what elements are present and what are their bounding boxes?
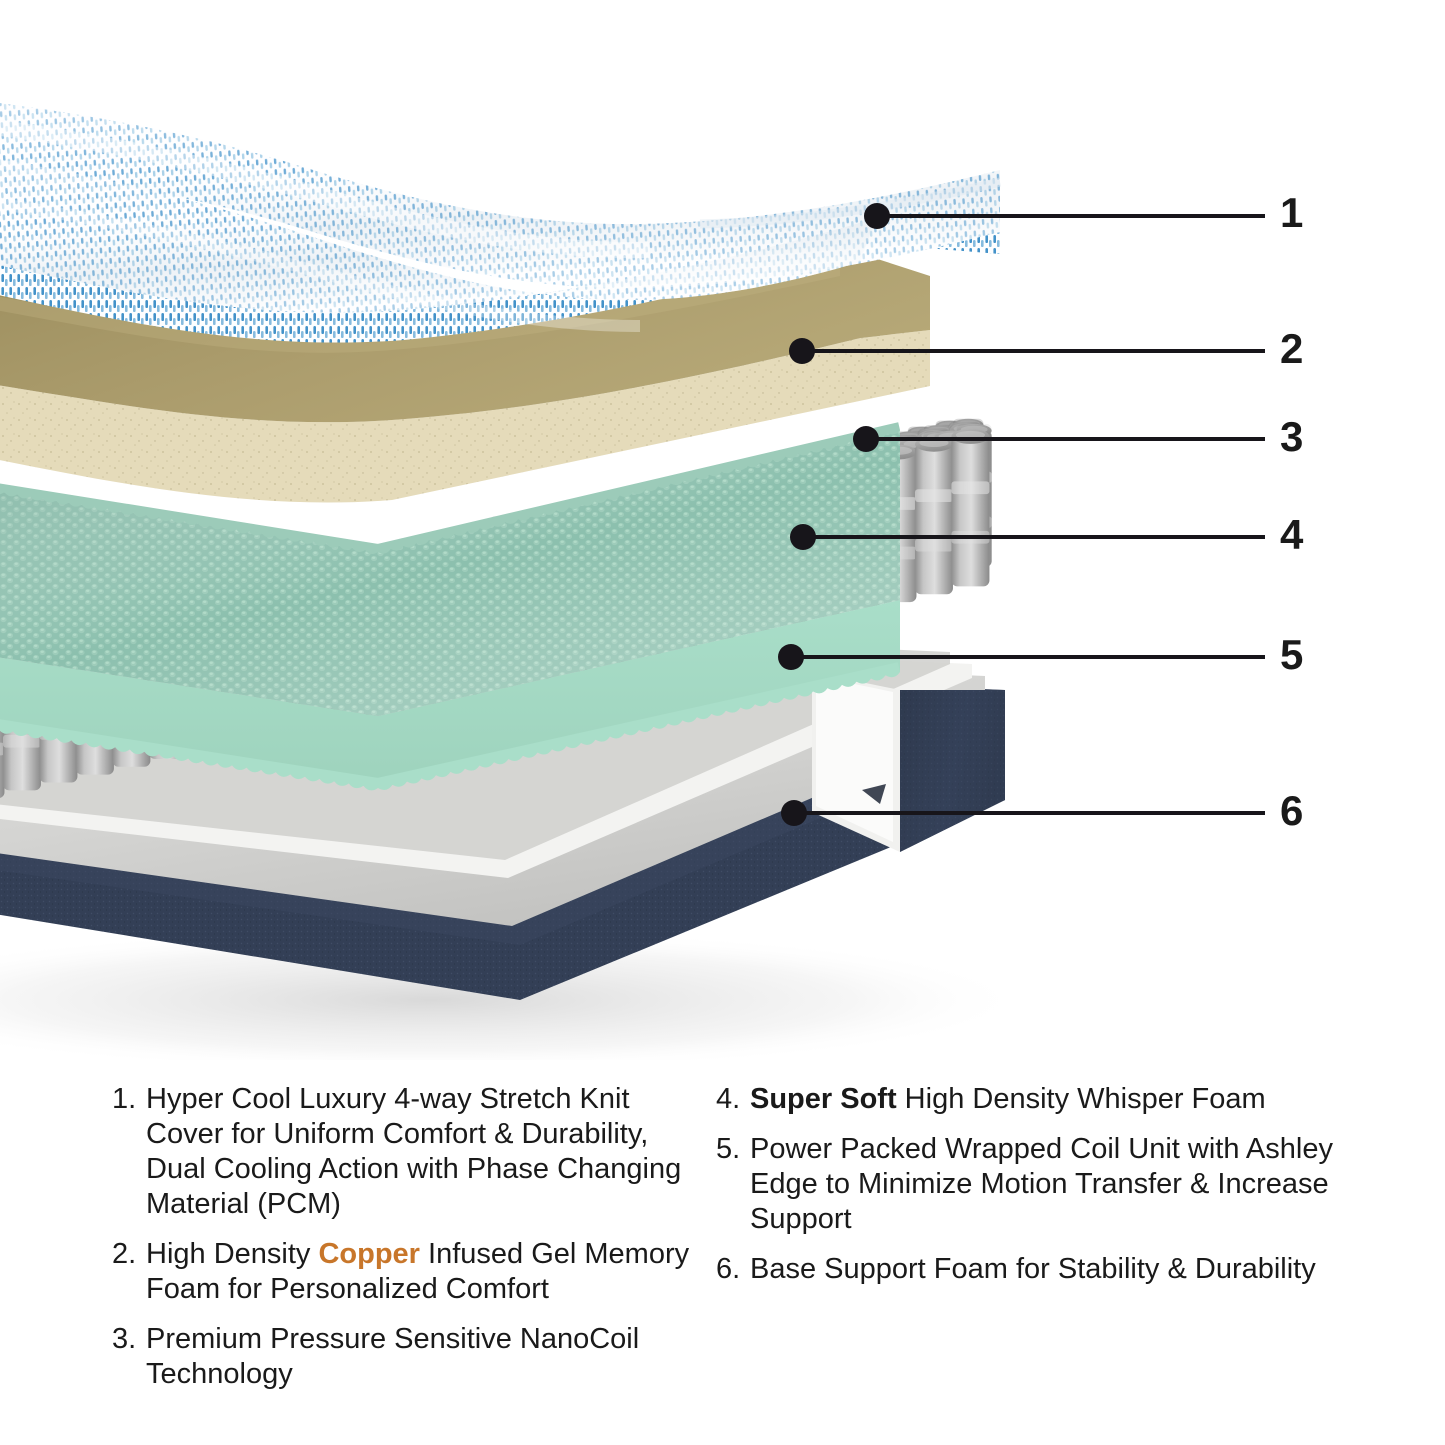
legend-item: 5.Power Packed Wrapped Coil Unit with As…: [716, 1132, 1336, 1237]
legend-text-segment: High Density: [146, 1238, 318, 1270]
callout-leader-2: [802, 349, 1265, 353]
legend-item-number: 2.: [112, 1237, 146, 1272]
legend-item-text: Super Soft High Density Whisper Foam: [750, 1082, 1336, 1117]
legend-item: 4.Super Soft High Density Whisper Foam: [716, 1082, 1336, 1117]
legend-text-segment: Power Packed Wrapped Coil Unit with Ashl…: [750, 1133, 1333, 1235]
callout-leader-3: [866, 437, 1265, 441]
legend-item-number: 4.: [716, 1082, 750, 1117]
legend: 1.Hyper Cool Luxury 4-way Stretch Knit C…: [0, 1082, 1445, 1422]
mattress-layer-diagram: 1 2 3 4 5 6 1.Hyper Cool Luxury 4-way St…: [0, 0, 1445, 1445]
callout-number-2: 2: [1280, 328, 1303, 370]
legend-item: 3.Premium Pressure Sensitive NanoCoil Te…: [112, 1322, 702, 1392]
legend-item-number: 5.: [716, 1132, 750, 1167]
legend-left-column: 1.Hyper Cool Luxury 4-way Stretch Knit C…: [112, 1082, 702, 1407]
pocket-coil: [915, 437, 953, 595]
pocket-coil: [951, 429, 989, 586]
legend-item-text: Hyper Cool Luxury 4-way Stretch Knit Cov…: [146, 1082, 702, 1222]
legend-right-column: 4.Super Soft High Density Whisper Foam5.…: [716, 1082, 1336, 1302]
legend-item: 2.High Density Copper Infused Gel Memory…: [112, 1237, 702, 1307]
callout-leader-5: [791, 655, 1265, 659]
legend-item-text: Premium Pressure Sensitive NanoCoil Tech…: [146, 1322, 702, 1392]
legend-item-text: Power Packed Wrapped Coil Unit with Ashl…: [750, 1132, 1336, 1237]
callout-number-1: 1: [1280, 192, 1303, 234]
legend-text-segment: Base Support Foam for Stability & Durabi…: [750, 1253, 1316, 1285]
legend-text-segment: Hyper Cool Luxury 4-way Stretch Knit Cov…: [146, 1083, 681, 1220]
callout-number-3: 3: [1280, 416, 1303, 458]
emphasis-text: Super Soft: [750, 1083, 897, 1115]
callout-leader-6: [794, 811, 1265, 815]
copper-highlight: Copper: [318, 1238, 420, 1270]
callout-number-6: 6: [1280, 790, 1303, 832]
legend-item: 6.Base Support Foam for Stability & Dura…: [716, 1252, 1336, 1287]
legend-item-number: 1.: [112, 1082, 146, 1117]
legend-item-number: 3.: [112, 1322, 146, 1357]
legend-item: 1.Hyper Cool Luxury 4-way Stretch Knit C…: [112, 1082, 702, 1222]
callout-number-4: 4: [1280, 514, 1303, 556]
callout-leader-4: [803, 535, 1265, 539]
legend-item-text: Base Support Foam for Stability & Durabi…: [750, 1252, 1336, 1287]
mattress-illustration: [0, 0, 1445, 1060]
legend-text-segment: High Density Whisper Foam: [897, 1083, 1266, 1115]
callout-leader-1: [877, 214, 1265, 218]
legend-item-text: High Density Copper Infused Gel Memory F…: [146, 1237, 702, 1307]
legend-text-segment: Premium Pressure Sensitive NanoCoil Tech…: [146, 1323, 639, 1390]
legend-item-number: 6.: [716, 1252, 750, 1287]
callout-number-5: 5: [1280, 634, 1303, 676]
